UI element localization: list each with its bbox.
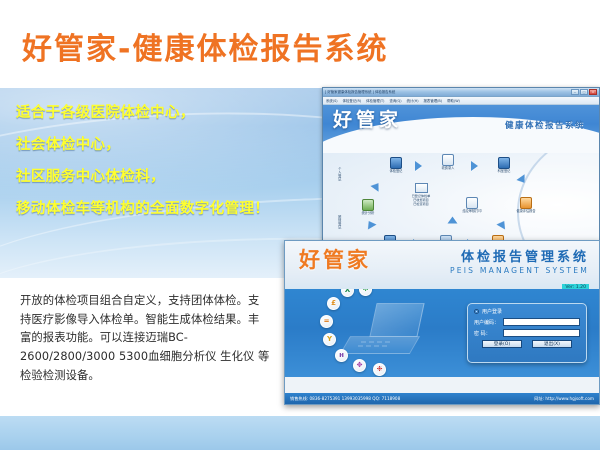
login-form-header: 用户登录 [474,308,580,315]
window-title-text: [ 好管家健康体检报告管理系统 ] 体检报告系统 [325,88,569,97]
laptop-key [358,345,363,347]
menu-item-stats[interactable]: 统计(H) [407,97,419,105]
feature-bullet-list: 适合于各级医院体检中心， 社会体检中心， 社区服务中心体检科， 移动体检车等机构… [16,106,316,234]
page-title: 好管家-健康体检报告系统 [22,24,388,68]
radio-icon[interactable] [474,309,479,314]
workflow-entry-label: 个人登记 [337,167,340,181]
login-form: 用户登录 用户编码： 密 码： 登录(O) 退出(X) [467,303,587,363]
window-titlebar[interactable]: [ 好管家健康体检报告管理系统 ] 体检报告系统 － □ × [323,88,599,97]
laptop-illustration [343,303,429,359]
username-input[interactable] [503,318,580,326]
menu-item-manage[interactable]: 体检管理(T) [366,97,384,105]
molecule-icon: ✻ [359,289,372,296]
workflow-node[interactable]: 收费录入 [431,154,465,171]
username-label: 用户编码： [474,319,503,326]
flask-icon: £ [327,297,340,310]
menu-item-help[interactable]: 帮助(W) [447,97,460,105]
virus-icon: ✥ [353,359,366,372]
bullet-line: 社区服务中心体检科， [16,170,316,186]
login-brand-logo: 好管家 [299,250,371,271]
bullet-line: 社会体检中心， [16,138,316,154]
laptop-screen [369,303,424,337]
login-window: 好管家 体检报告管理系统 PEIS MANAGENT SYSTEM Ver: 1… [284,240,600,405]
antibody-icon: Y [323,333,336,346]
login-button[interactable]: 登录(O) [482,340,522,348]
edit-note-icon [442,154,454,166]
app-subtitle: 健康体检报告系统 [505,119,585,131]
menu-item-system[interactable]: 系统(S) [326,97,338,105]
laptop-key [366,345,371,347]
status-line: 已检查项目 [401,202,441,206]
bullet-line: 适合于各级医院体检中心， [16,106,316,122]
app-brand-logo: 好管家 [333,111,402,130]
node-label: 健康评估报告 [509,210,543,214]
clipboard-icon [466,197,478,209]
document-icon [415,183,428,193]
palette-icon: ❉ [373,363,386,376]
password-label: 密 码： [474,330,503,337]
workflow-node[interactable]: 结论审核打印 [455,197,489,214]
login-form-title: 用户登录 [482,308,502,315]
login-header: 好管家 体检报告管理系统 PEIS MANAGENT SYSTEM Ver: 1… [285,241,599,289]
password-row: 密 码： [474,329,580,337]
node-label: 科室登记 [487,170,521,174]
login-title-group: 体检报告管理系统 PEIS MANAGENT SYSTEM [450,251,589,276]
arrow-icon [364,218,376,229]
dna-icon: ⅄ [341,289,354,297]
menu-item-register[interactable]: 体检登记(R) [343,97,362,105]
workflow-node[interactable]: 科室登记 [487,157,521,174]
workflow-node[interactable]: 统计分析 [351,199,385,216]
status-hotline: 销售热线: 0836-8275391 13993035998 QQ: 71189… [290,393,400,404]
menu-bar: 系统(S) 体检登记(R) 体检管理(T) 查询(Q) 统计(H) 报表管理(B… [323,97,599,105]
window-controls: － □ × [571,89,597,95]
cell-icon: н [335,349,348,362]
laptop-key [382,345,387,347]
arrow-icon [471,161,478,171]
status-website: 网址: http://www.hgjsoft.com [534,393,594,404]
node-label: 收费录入 [431,167,465,171]
arrow-icon [448,217,458,224]
node-label: 结论审核打印 [455,210,489,214]
department-icon [498,157,510,169]
login-buttons: 登录(O) 退出(X) [474,340,580,348]
workflow-status-list: 已登记体检单 已收费项目 已检查项目 [401,183,441,207]
node-label: 统计分析 [351,212,385,216]
close-icon[interactable]: × [589,89,597,95]
workflow-node[interactable]: 健康评估报告 [509,197,543,214]
maximize-icon[interactable]: □ [580,89,588,95]
registration-icon [390,157,402,169]
login-title-en: PEIS MANAGENT SYSTEM [450,266,589,276]
laptop-key [377,341,382,343]
laptop-key [361,341,366,343]
description-paragraph: 开放的体检项目组合自定义，支持团体体检。支持医疗影像导入体检单。智能生成体检结果… [20,292,270,385]
footer-strip [0,416,600,450]
minimize-icon[interactable]: － [571,89,579,95]
password-input[interactable] [503,329,580,337]
menu-item-reports[interactable]: 报表管理(B) [424,97,443,105]
node-label: 体检登记 [379,170,413,174]
workflow-exit-label: 团体登记 [337,215,340,229]
laptop-key [369,341,374,343]
arrow-icon [415,161,422,171]
pill-icon: = [320,315,333,328]
login-body: ⅄ ✻ £ = Y н ✥ ❉ 用户登录 用户编码： 密 码： [285,289,599,377]
chart-icon [362,199,374,211]
username-row: 用户编码： [474,318,580,326]
poster-canvas: 好管家-健康体检报告系统 适合于各级医院体检中心， 社会体检中心， 社区服务中心… [0,0,600,450]
bullet-line: 移动体检车等机构的全面数字化管理！ [16,202,316,218]
arrow-icon [370,180,382,191]
menu-item-query[interactable]: 查询(Q) [389,97,401,105]
report-icon [520,197,532,209]
exit-button[interactable]: 退出(X) [532,340,572,348]
laptop-base [340,336,420,354]
arrow-icon [496,218,508,229]
login-statusbar: 销售热线: 0836-8275391 13993035998 QQ: 71189… [285,393,599,404]
login-title-cn: 体检报告管理系统 [450,251,589,266]
laptop-key [385,341,390,343]
laptop-key [374,345,379,347]
workflow-node[interactable]: 体检登记 [379,157,413,174]
